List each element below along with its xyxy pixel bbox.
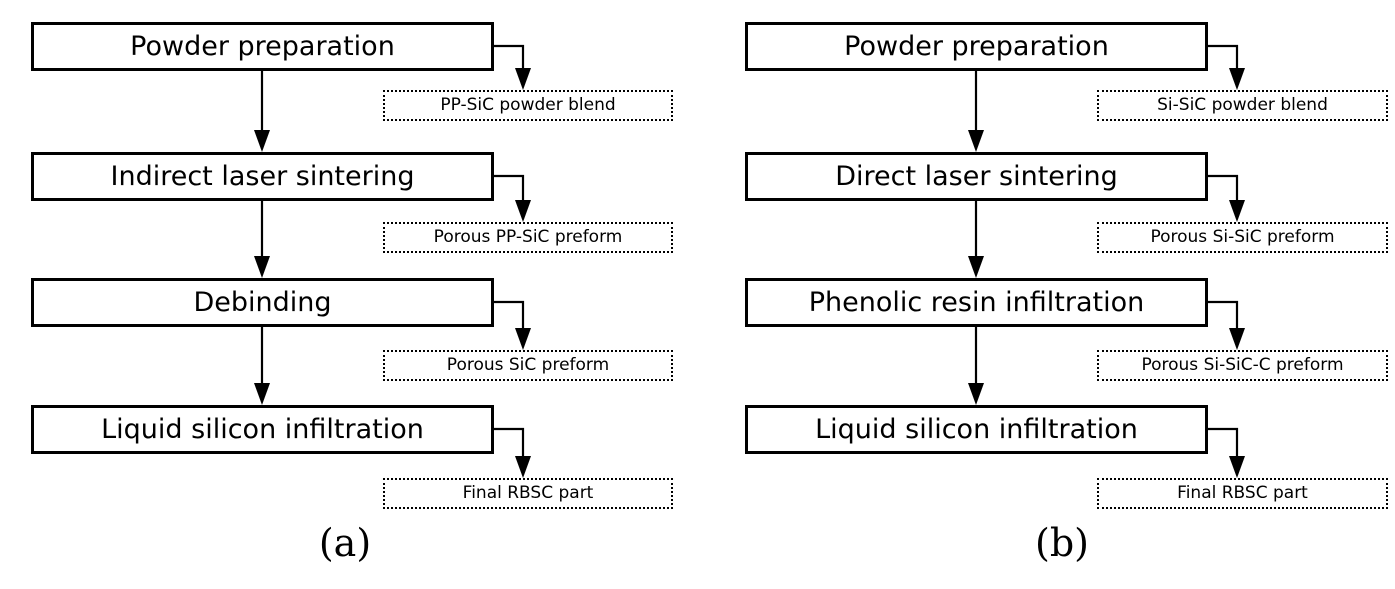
branch-head-a-2 (515, 200, 531, 222)
output-label-b-1: Si-SiC powder blend (1153, 97, 1332, 114)
branch-line-b-3 (1208, 302, 1237, 338)
branch-head-a-3 (515, 328, 531, 350)
arrow-head-a-3 (254, 383, 270, 405)
branch-line-b-2 (1208, 176, 1237, 210)
output-label-a-3: Porous SiC preform (443, 357, 613, 374)
process-label-b-1: Powder preparation (838, 33, 1115, 60)
output-box-a-3[interactable]: Porous SiC preform (383, 350, 673, 381)
process-label-b-3: Phenolic resin infiltration (803, 289, 1151, 316)
figure-canvas: Powder preparation PP-SiC powder blend I… (0, 0, 1395, 589)
branch-line-b-4 (1208, 429, 1237, 466)
output-box-b-2[interactable]: Porous Si-SiC preform (1097, 222, 1388, 253)
process-label-a-3: Debinding (187, 289, 337, 316)
output-box-b-4[interactable]: Final RBSC part (1097, 478, 1388, 509)
process-box-a-2[interactable]: Indirect laser sintering (31, 152, 494, 201)
flowchart-panel-b: Powder preparation Si-SiC powder blend D… (714, 0, 1395, 589)
output-label-b-4: Final RBSC part (1173, 485, 1312, 502)
branch-head-a-4 (515, 456, 531, 478)
process-box-b-4[interactable]: Liquid silicon infiltration (745, 405, 1208, 454)
branch-head-b-4 (1229, 456, 1245, 478)
output-label-a-4: Final RBSC part (459, 485, 598, 502)
process-box-a-4[interactable]: Liquid silicon infiltration (31, 405, 494, 454)
branch-line-a-1 (494, 46, 523, 78)
arrow-head-a-2 (254, 256, 270, 278)
output-box-a-4[interactable]: Final RBSC part (383, 478, 673, 509)
branch-line-a-3 (494, 302, 523, 338)
arrow-head-b-3 (968, 383, 984, 405)
output-box-a-1[interactable]: PP-SiC powder blend (383, 90, 673, 121)
process-box-b-2[interactable]: Direct laser sintering (745, 152, 1208, 201)
output-label-b-3: Porous Si-SiC-C preform (1137, 357, 1347, 374)
output-box-a-2[interactable]: Porous PP-SiC preform (383, 222, 673, 253)
arrow-head-a-1 (254, 130, 270, 152)
branch-head-a-1 (515, 68, 531, 90)
arrow-head-b-2 (968, 256, 984, 278)
panel-caption-a: (a) (300, 524, 390, 562)
process-box-b-3[interactable]: Phenolic resin infiltration (745, 278, 1208, 327)
panel-caption-b: (b) (1017, 524, 1107, 562)
output-box-b-1[interactable]: Si-SiC powder blend (1097, 90, 1388, 121)
flowchart-panel-a: Powder preparation PP-SiC powder blend I… (0, 0, 697, 589)
process-box-a-1[interactable]: Powder preparation (31, 22, 494, 71)
branch-line-a-2 (494, 176, 523, 210)
output-box-b-3[interactable]: Porous Si-SiC-C preform (1097, 350, 1388, 381)
process-label-b-4: Liquid silicon infiltration (809, 416, 1144, 443)
branch-line-a-4 (494, 429, 523, 466)
output-label-a-1: PP-SiC powder blend (436, 97, 619, 114)
process-label-a-2: Indirect laser sintering (105, 163, 421, 190)
process-label-b-2: Direct laser sintering (829, 163, 1124, 190)
process-box-b-1[interactable]: Powder preparation (745, 22, 1208, 71)
branch-head-b-2 (1229, 200, 1245, 222)
process-box-a-3[interactable]: Debinding (31, 278, 494, 327)
branch-line-b-1 (1208, 46, 1237, 78)
branch-head-b-1 (1229, 68, 1245, 90)
branch-head-b-3 (1229, 328, 1245, 350)
process-label-a-4: Liquid silicon infiltration (95, 416, 430, 443)
output-label-a-2: Porous PP-SiC preform (430, 229, 627, 246)
arrow-head-b-1 (968, 130, 984, 152)
process-label-a-1: Powder preparation (124, 33, 401, 60)
output-label-b-2: Porous Si-SiC preform (1146, 229, 1338, 246)
